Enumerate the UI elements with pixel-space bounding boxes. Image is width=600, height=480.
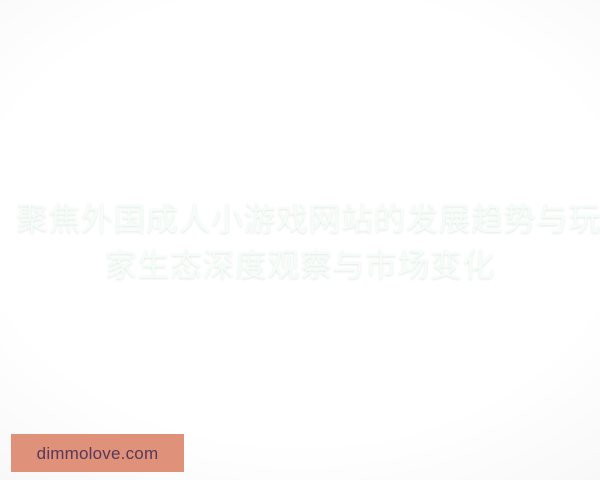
title-line-2: 家生态深度观察与市场变化 (16, 242, 584, 288)
title-line-1: 聚焦外国成人小游戏网站的发展趋势与玩 (16, 196, 584, 242)
watermark-label: dimmolove.com (37, 445, 159, 462)
title-card: 聚焦外国成人小游戏网站的发展趋势与玩 家生态深度观察与市场变化 dimmolov… (0, 0, 600, 480)
page-title: 聚焦外国成人小游戏网站的发展趋势与玩 家生态深度观察与市场变化 (0, 196, 600, 288)
watermark-badge[interactable]: dimmolove.com (11, 434, 184, 472)
